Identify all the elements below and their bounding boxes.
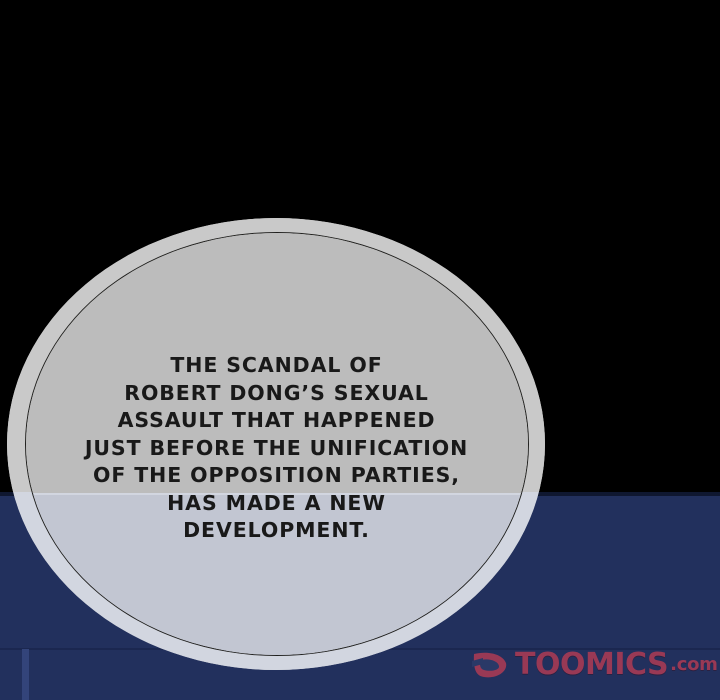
speech-balloon <box>7 218 545 670</box>
balloon-fill-lower <box>25 495 529 656</box>
toomics-d-logo-icon <box>472 651 508 679</box>
toomics-wordmark: TOOMICS <box>515 650 668 680</box>
toomics-watermark: TOOMICS .com <box>472 645 718 685</box>
toomics-tld: .com <box>670 656 717 674</box>
comic-panel: THE SCANDAL OF ROBERT DONG’S SEXUAL ASSA… <box>0 0 720 700</box>
balloon-fill-upper <box>25 232 529 493</box>
speech-balloon-outline <box>25 232 529 656</box>
